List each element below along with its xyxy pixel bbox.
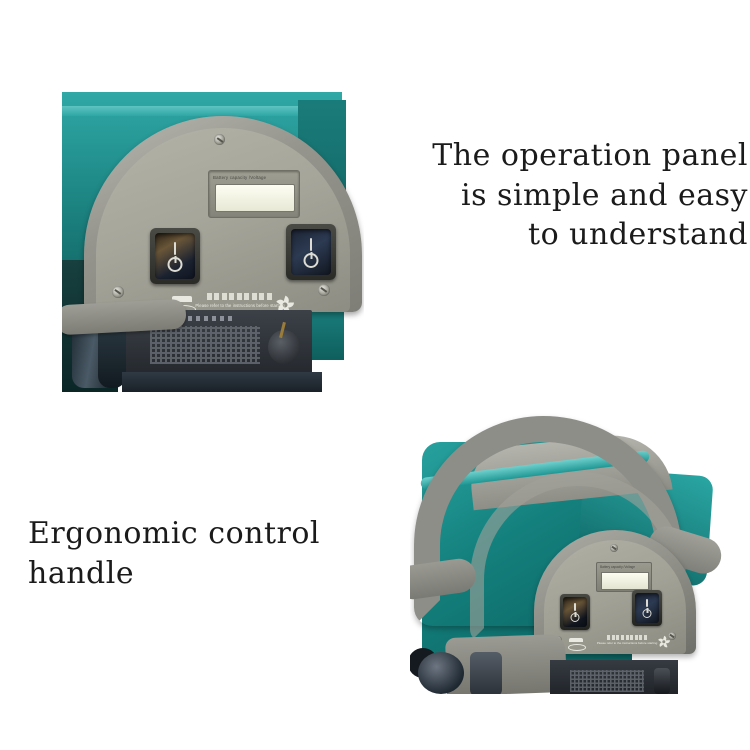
switch-on-symbol-icon xyxy=(574,603,576,611)
vacuum-motor-switch[interactable] xyxy=(286,224,336,280)
ventilation-grille xyxy=(150,326,260,364)
rocker-face xyxy=(155,233,195,279)
machine-base xyxy=(122,372,322,392)
switch-off-power-icon xyxy=(304,253,319,268)
switch-off-power-icon xyxy=(571,613,580,622)
switch-on-symbol-icon xyxy=(310,238,312,251)
battery-display-label: Battery capacity /Voltage xyxy=(213,173,295,183)
brush-squeegee-icon xyxy=(568,638,584,649)
battery-display-screen xyxy=(601,572,649,590)
caster-wheel xyxy=(418,652,464,694)
panel-warning-text: Please refer to the instructions before … xyxy=(588,641,666,645)
panel-screw-top xyxy=(214,134,225,145)
panel-screw-bottom-right xyxy=(318,284,330,296)
caption-operation-panel: The operation panel is simple and easy t… xyxy=(418,136,748,255)
brush-motor-switch[interactable] xyxy=(560,594,590,630)
battery-display-frame: Battery capacity /Voltage xyxy=(208,170,300,218)
brush-motor-switch[interactable] xyxy=(150,228,200,284)
battery-display-screen xyxy=(215,184,295,212)
vacuum-motor-switch[interactable] xyxy=(632,590,662,626)
panel-warning-text: Please refer to the instructions before … xyxy=(180,303,300,308)
panel-cn-text xyxy=(596,634,658,640)
panel-screw-bottom-left xyxy=(112,286,124,298)
switch-on-symbol-icon xyxy=(646,599,648,607)
machine-skirt xyxy=(445,634,567,694)
switch-off-power-icon xyxy=(168,257,183,272)
rocker-face xyxy=(635,593,659,623)
battery-display-label: Battery capacity /Voltage xyxy=(600,564,648,571)
photo-operation-panel-closeup: Battery capacity /Voltage xyxy=(62,92,364,392)
rocker-face xyxy=(291,229,331,275)
key-switch[interactable] xyxy=(654,668,670,694)
battery-display-frame: Battery capacity /Voltage xyxy=(596,562,652,592)
caption-ergonomic-handle: Ergonomic control handle xyxy=(28,514,368,593)
switch-on-symbol-icon xyxy=(174,242,176,255)
panel-screw-top xyxy=(610,544,618,552)
panel-cn-text xyxy=(188,292,290,301)
machine-column xyxy=(470,652,502,694)
photo-ergonomic-handle-view: Battery capacity /Voltage Please refer t… xyxy=(410,412,722,694)
ventilation-grille xyxy=(570,670,644,692)
machine-chassis xyxy=(550,660,678,694)
rocker-face xyxy=(563,597,587,627)
control-knob[interactable] xyxy=(268,330,300,364)
switch-off-power-icon xyxy=(643,609,652,618)
